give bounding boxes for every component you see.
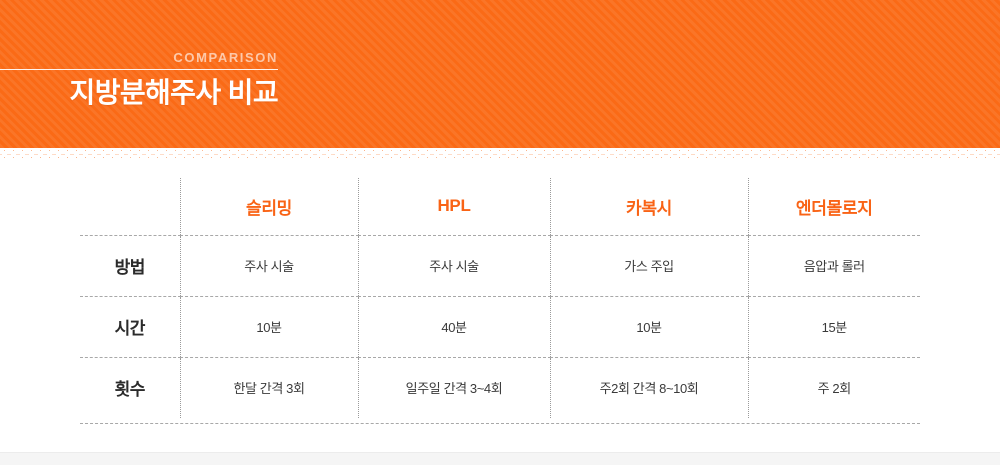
footer-strip <box>0 452 1000 465</box>
cell-time-carboxy: 10분 <box>550 296 748 357</box>
cell-frequency-hpl: 일주일 간격 3~4회 <box>358 357 550 418</box>
row-label-time: 시간 <box>80 296 180 357</box>
banner-divider-rule <box>0 69 278 70</box>
column-header-hpl: HPL <box>358 178 550 235</box>
table-header-row: 슬리밍 HPL 카복시 엔더몰로지 <box>80 178 920 235</box>
cell-frequency-carboxy: 주2회 간격 8~10회 <box>550 357 748 418</box>
row-label-method: 방법 <box>80 235 180 296</box>
page-title: 지방분해주사 비교 <box>0 74 278 112</box>
cell-method-slimming: 주사 시술 <box>180 235 358 296</box>
cell-time-endermologie: 15분 <box>748 296 920 357</box>
table-row: 횟수 한달 간격 3회 일주일 간격 3~4회 주2회 간격 8~10회 주 2… <box>80 357 920 418</box>
row-label-frequency: 횟수 <box>80 357 180 418</box>
table-corner-cell <box>80 178 180 235</box>
cell-time-hpl: 40분 <box>358 296 550 357</box>
header-banner-content: COMPARISON 지방분해주사 비교 <box>0 0 1000 160</box>
cell-frequency-endermologie: 주 2회 <box>748 357 920 418</box>
column-header-carboxy: 카복시 <box>550 178 748 235</box>
cell-method-endermologie: 음압과 롤러 <box>748 235 920 296</box>
cell-method-hpl: 주사 시술 <box>358 235 550 296</box>
cell-method-carboxy: 가스 주입 <box>550 235 748 296</box>
table-row: 방법 주사 시술 주사 시술 가스 주입 음압과 롤러 <box>80 235 920 296</box>
header-banner: COMPARISON 지방분해주사 비교 <box>0 0 1000 160</box>
table-header: 슬리밍 HPL 카복시 엔더몰로지 <box>80 178 920 235</box>
table-body: 방법 주사 시술 주사 시술 가스 주입 음압과 롤러 시간 10분 40분 1… <box>80 235 920 418</box>
cell-time-slimming: 10분 <box>180 296 358 357</box>
table-bottom-divider <box>80 423 920 424</box>
comparison-table: 슬리밍 HPL 카복시 엔더몰로지 방법 주사 시술 주사 시술 가스 주입 음… <box>80 178 920 418</box>
banner-zigzag-edge-icon <box>0 148 1000 160</box>
column-header-endermologie: 엔더몰로지 <box>748 178 920 235</box>
banner-eyebrow-label: COMPARISON <box>0 50 278 66</box>
cell-frequency-slimming: 한달 간격 3회 <box>180 357 358 418</box>
table-row: 시간 10분 40분 10분 15분 <box>80 296 920 357</box>
comparison-table-wrapper: 슬리밍 HPL 카복시 엔더몰로지 방법 주사 시술 주사 시술 가스 주입 음… <box>80 178 920 424</box>
column-header-slimming: 슬리밍 <box>180 178 358 235</box>
comparison-page: COMPARISON 지방분해주사 비교 슬리밍 HPL 카복시 엔더몰로지 <box>0 0 1000 465</box>
